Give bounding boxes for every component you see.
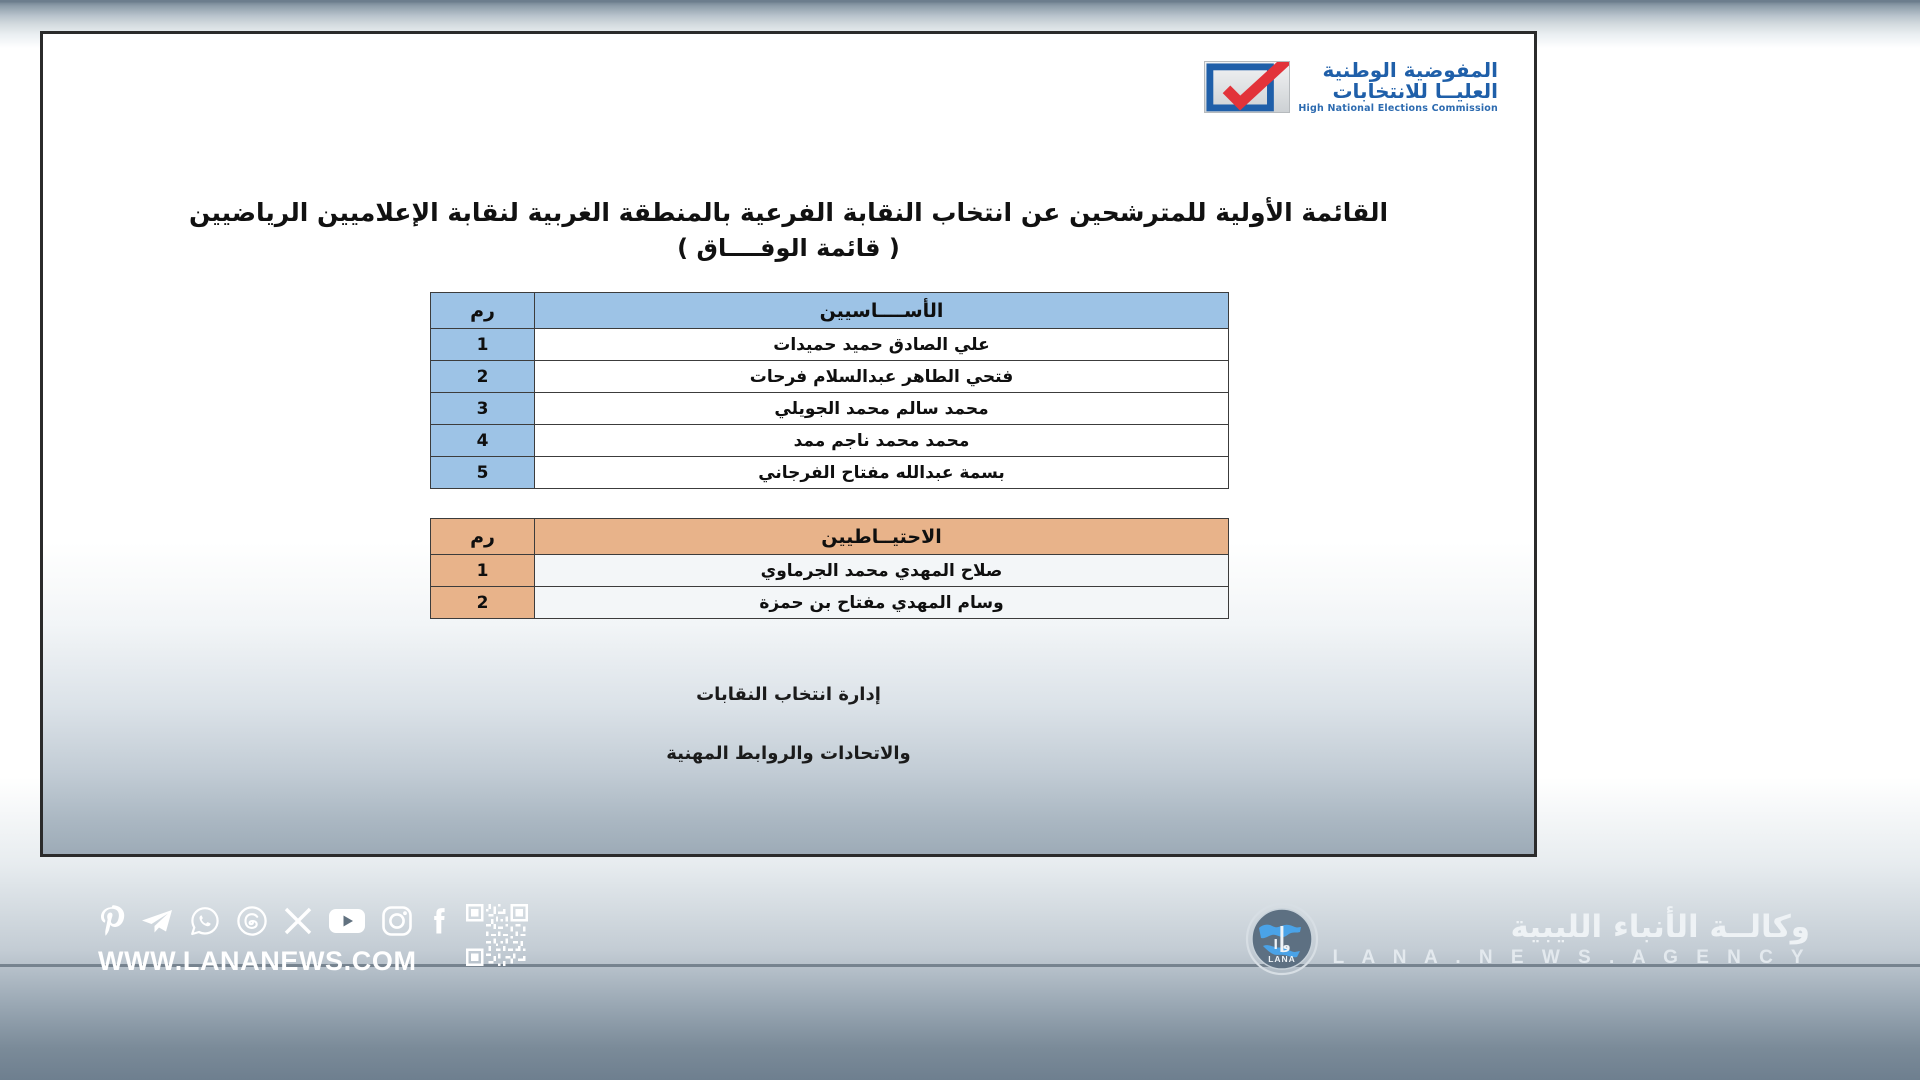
document-page: المفوضية الوطنية العليــا للانتخابات Hig…: [40, 31, 1537, 857]
hnec-logo: المفوضية الوطنية العليــا للانتخابات Hig…: [1204, 60, 1498, 114]
column-header-name: الاحتيــاطيين: [535, 519, 1229, 555]
screen-background: المفوضية الوطنية العليــا للانتخابات Hig…: [0, 0, 1920, 1080]
candidate-number: 2: [431, 361, 535, 393]
table-row: وسام المهدي مفتاح بن حمزة 2: [431, 587, 1229, 619]
candidate-number: 4: [431, 425, 535, 457]
candidate-number: 3: [431, 393, 535, 425]
candidate-number: 1: [431, 555, 535, 587]
lana-agency-brand: وكالــة الأنباء الليبية L A N A . N E W …: [1245, 902, 1810, 976]
social-links-cluster[interactable]: WWW.LANANEWS.COM: [98, 900, 528, 977]
table-row: علي الصادق حميد حميدات 1: [431, 329, 1229, 361]
column-header-name: الأســــاسيين: [535, 293, 1229, 329]
candidate-name: وسام المهدي مفتاح بن حمزة: [535, 587, 1229, 619]
threads-icon[interactable]: [236, 905, 268, 937]
table-row: بسمة عبدالله مفتاح الفرجاني 5: [431, 457, 1229, 489]
social-icon-row[interactable]: [98, 900, 452, 942]
whatsapp-icon[interactable]: [189, 905, 221, 937]
telegram-icon[interactable]: [140, 907, 174, 935]
lana-brand-text: وكالــة الأنباء الليبية L A N A . N E W …: [1333, 909, 1810, 969]
candidate-number: 5: [431, 457, 535, 489]
instagram-icon[interactable]: [381, 905, 413, 937]
table-row: فتحي الطاهر عبدالسلام فرحات 2: [431, 361, 1229, 393]
column-header-number: رم: [431, 519, 535, 555]
candidate-name: محمد سالم محمد الجويلي: [535, 393, 1229, 425]
column-header-number: رم: [431, 293, 535, 329]
signature-line-1: إدارة انتخاب النقابات: [43, 684, 1534, 705]
agency-name-english: L A N A . N E W S . A G E N C Y: [1333, 947, 1810, 969]
candidate-number: 2: [431, 587, 535, 619]
table-row: محمد محمد ناجم ممد 4: [431, 425, 1229, 457]
page-subtitle: ( قائمة الوفــــاق ): [43, 234, 1534, 262]
candidate-name: محمد محمد ناجم ممد: [535, 425, 1229, 457]
qr-code-icon[interactable]: [466, 904, 528, 966]
youtube-icon[interactable]: [328, 907, 366, 935]
website-url[interactable]: WWW.LANANEWS.COM: [98, 946, 452, 977]
table-row: محمد سالم محمد الجويلي 3: [431, 393, 1229, 425]
facebook-icon[interactable]: [428, 904, 452, 938]
table-header-row: الأســــاسيين رم: [431, 293, 1229, 329]
svg-text:LANA: LANA: [1268, 954, 1296, 964]
hnec-name-english: High National Elections Commission: [1298, 104, 1498, 114]
reserve-candidates-table: الاحتيــاطيين رم صلاح المهدي محمد الجرما…: [430, 518, 1229, 619]
signature-line-2: والاتحادات والروابط المهنية: [43, 743, 1534, 764]
primary-table-body: علي الصادق حميد حميدات 1 فتحي الطاهر عبد…: [431, 329, 1229, 489]
hnec-logo-text: المفوضية الوطنية العليــا للانتخابات Hig…: [1298, 60, 1498, 114]
social-and-url: WWW.LANANEWS.COM: [98, 900, 452, 977]
primary-candidates-table: الأســــاسيين رم علي الصادق حميد حميدات …: [430, 292, 1229, 489]
candidate-name: فتحي الطاهر عبدالسلام فرحات: [535, 361, 1229, 393]
candidate-name: بسمة عبدالله مفتاح الفرجاني: [535, 457, 1229, 489]
lana-globe-icon: و ا LANA: [1245, 902, 1319, 976]
svg-text:و ا: و ا: [1273, 938, 1290, 953]
ballot-check-icon: [1204, 61, 1290, 113]
hnec-name-line1: المفوضية الوطنية: [1298, 60, 1498, 81]
signature-block: إدارة انتخاب النقابات والاتحادات والرواب…: [43, 684, 1534, 764]
agency-name-arabic: وكالــة الأنباء الليبية: [1333, 909, 1810, 945]
pinterest-icon[interactable]: [98, 904, 125, 938]
hnec-name-line2: العليــا للانتخابات: [1298, 81, 1498, 102]
x-twitter-icon[interactable]: [283, 906, 313, 936]
candidate-name: علي الصادق حميد حميدات: [535, 329, 1229, 361]
candidate-name: صلاح المهدي محمد الجرماوي: [535, 555, 1229, 587]
page-title: القائمة الأولية للمترشحين عن انتخاب النق…: [43, 194, 1534, 232]
candidate-number: 1: [431, 329, 535, 361]
reserve-table-body: صلاح المهدي محمد الجرماوي 1 وسام المهدي …: [431, 555, 1229, 619]
table-header-row: الاحتيــاطيين رم: [431, 519, 1229, 555]
table-row: صلاح المهدي محمد الجرماوي 1: [431, 555, 1229, 587]
footer-bar: WWW.LANANEWS.COM وكالــة الأنباء الليبية…: [0, 880, 1920, 1080]
